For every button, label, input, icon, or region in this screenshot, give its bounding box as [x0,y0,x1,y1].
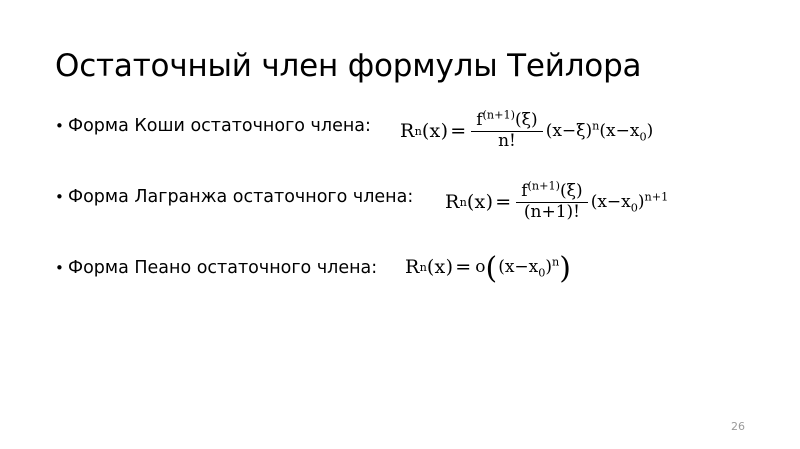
formula-fraction: f(n+1)(ξ) n! [471,112,542,151]
bullet-list: •Форма Коши остаточного члена: Rn(x) = f… [55,114,755,327]
bullet-label-cauchy: Форма Коши остаточного члена: [68,116,371,136]
formula-tail: (x−x0)n [498,259,559,276]
tail-superscript: n+1 [645,190,669,203]
formula-cauchy: Rn(x) = f(n+1)(ξ) n! (x−ξ)n(x−x0) [400,112,653,151]
list-item: •Форма Лагранжа остаточного члена: Rn(x)… [55,185,755,256]
big-paren-close: ) [559,260,571,278]
formula-numerator: f(n+1)(ξ) [516,183,587,202]
tail-subscript: 0 [631,201,638,214]
formula-tail: (x−x0)n+1 [591,194,669,211]
formula-peano: Rn(x) = o ( (x−x0)n ) [405,258,571,277]
formula-tail: (x−ξ)n(x−x0) [546,123,654,140]
formula-lhs-symbol: R [445,193,460,212]
formula-lhs-symbol: R [405,258,420,277]
numerator-argument: (ξ) [560,181,583,201]
tail-close: ) [638,192,645,212]
formula-denominator: n! [493,132,521,151]
tail-superscript: n [552,255,559,268]
slide-canvas: Остаточный член формулы Тейлора •Форма К… [0,0,800,449]
formula-lhs-argument: (x) [427,258,453,277]
formula-equals-sign: = [455,258,471,277]
tail-minus: − [607,192,621,212]
bullet-label-lagrange: Форма Лагранжа остаточного члена: [68,187,413,207]
bullet-line-peano: •Форма Пеано остаточного члена: [55,256,377,280]
formula-lhs-argument: (x) [467,193,493,212]
numerator-superscript: (n+1) [483,108,516,121]
bullet-marker-icon: • [55,185,68,209]
bullet-marker-icon: • [55,114,68,138]
tail-minus: − [562,121,576,141]
tail2-open: (x [599,121,615,141]
formula-numerator: f(n+1)(ξ) [471,112,542,131]
formula-equals-sign: = [495,193,511,212]
list-item: •Форма Пеано остаточного члена: Rn(x) = … [55,256,755,327]
numerator-superscript: (n+1) [528,179,561,192]
tail-open: (x [591,192,607,212]
big-paren-open: ( [485,260,497,278]
page-number: 26 [731,420,745,433]
tail-open: (x [498,257,514,277]
tail-variable: x [621,192,631,212]
bullet-marker-icon: • [55,256,68,280]
formula-lagrange: Rn(x) = f(n+1)(ξ) (n+1)! (x−x0)n+1 [445,183,668,222]
tail-variable: ξ) [576,121,592,141]
bullet-line-lagrange: •Форма Лагранжа остаточного члена: [55,185,413,209]
formula-denominator: (n+1)! [519,203,585,222]
formula-lhs-argument: (x) [422,122,448,141]
formula-equals-sign: = [450,122,466,141]
bullet-label-peano: Форма Пеано остаточного члена: [68,258,377,278]
page-title: Остаточный член формулы Тейлора [55,47,675,85]
tail-variable: x [529,257,539,277]
list-item: •Форма Коши остаточного члена: Rn(x) = f… [55,114,755,185]
formula-fraction: f(n+1)(ξ) (n+1)! [516,183,587,222]
bullet-line-cauchy: •Форма Коши остаточного члена: [55,114,371,138]
tail2-subscript: 0 [639,130,646,143]
numerator-argument: (ξ) [515,110,538,130]
formula-lhs-symbol: R [400,122,415,141]
tail2-minus: − [616,121,630,141]
little-o-symbol: o [475,259,485,276]
tail2-close: ) [647,121,654,141]
tail-minus: − [514,257,528,277]
tail-open: (x [546,121,562,141]
